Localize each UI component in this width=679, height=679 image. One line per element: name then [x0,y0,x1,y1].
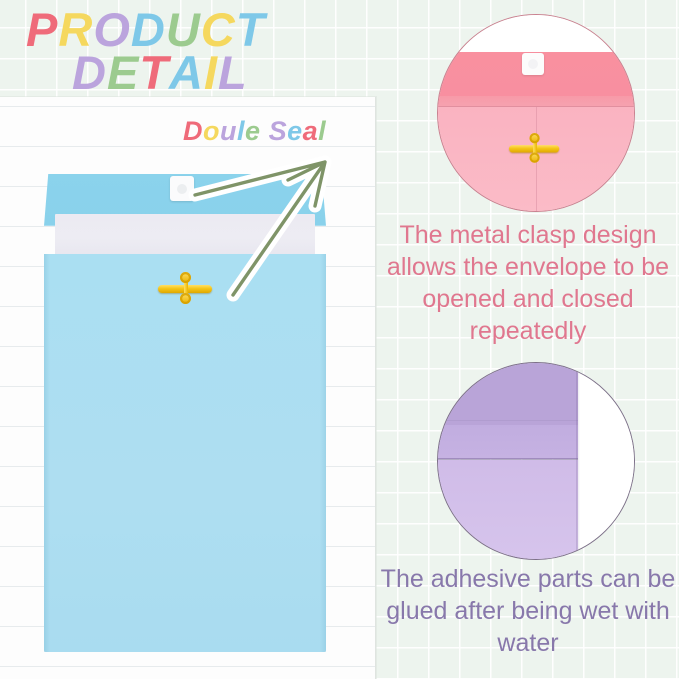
letter-glyph: T [236,6,266,53]
detail-circle-clasp [437,14,635,212]
purple-envelope-fold [438,420,578,421]
detail-circle-adhesive [437,362,635,560]
letter-glyph: l [237,118,245,145]
purple-envelope-body [438,460,578,559]
letter-glyph: A [169,49,204,96]
letter-glyph: l [318,118,326,145]
caption-clasp-design: The metal clasp design allows the envelo… [378,219,678,347]
letter-glyph: e [245,118,261,145]
letter-glyph: L [218,49,248,96]
callout-arrow-icon [185,140,350,310]
letter-glyph: e [287,118,303,145]
envelope-body [44,254,326,652]
letter-glyph: I [204,49,218,96]
letter-glyph [261,118,269,145]
envelope-left-shade [44,254,50,652]
clasp-ring-top [529,133,539,143]
title-line-product: PRODUCT [26,6,265,53]
envelope-right-shade [320,254,326,652]
letter-glyph: R [58,6,93,53]
letter-glyph: P [26,6,58,53]
letter-glyph: o [203,118,220,145]
page-title: PRODUCT DETAIL [14,2,374,102]
letter-glyph: u [220,118,237,145]
product-detail-infographic: PRODUCT DETAIL Doule Seal [0,0,679,679]
letter-glyph: O [93,6,131,53]
letter-glyph: a [303,118,319,145]
letter-glyph: E [107,49,139,96]
purple-envelope-right-shade [576,363,580,559]
pink-background [438,15,634,52]
purple-envelope-edge [438,458,578,460]
letter-glyph: C [201,6,236,53]
letter-glyph: D [72,49,107,96]
clasp-ring-bottom [529,153,539,163]
letter-glyph: S [269,118,288,145]
title-line-detail: DETAIL [72,49,248,96]
letter-glyph: U [166,6,201,53]
caption-adhesive-parts: The adhesive parts can be glued after be… [378,563,678,659]
letter-glyph: D [183,118,203,145]
pink-sticker-icon [522,53,544,75]
pink-metal-clasp-icon [509,133,559,163]
purple-background [578,363,634,559]
doule-seal-label: Doule Seal [183,118,326,145]
letter-glyph: D [131,6,166,53]
letter-glyph: T [139,49,169,96]
purple-envelope-flap [438,363,578,459]
